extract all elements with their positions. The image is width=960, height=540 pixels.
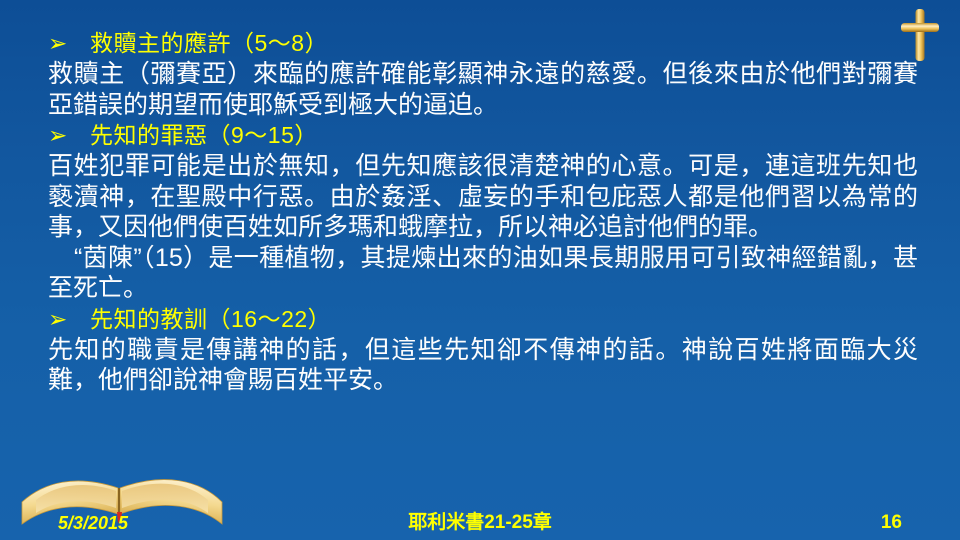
section-heading-1: ➢ 救贖主的應許（5～8）	[48, 28, 918, 59]
slide: ➢ 救贖主的應許（5～8） 救贖主（彌賽亞）來臨的應許確能彰顯神永遠的慈愛。但後…	[0, 0, 960, 540]
paragraph-1: 救贖主（彌賽亞）來臨的應許確能彰顯神永遠的慈愛。但後來由於他們對彌賽亞錯誤的期望…	[48, 59, 918, 120]
paragraph-2: 百姓犯罪可能是出於無知，但先知應該很清楚神的心意。可是，連這班先知也褻瀆神，在聖…	[48, 151, 918, 243]
arrow-bullet-icon: ➢	[48, 124, 78, 147]
section-heading-2: ➢ 先知的罪惡（9～15）	[48, 120, 918, 151]
section-heading-1-label: 救贖主的應許（5～8）	[90, 28, 328, 59]
paragraph-4: 先知的職責是傳講神的話，但這些先知卻不傳神的話。神說百姓將面臨大災難，他們卻說神…	[48, 335, 918, 396]
footer-title: 耶利米書21-25章	[0, 507, 960, 534]
arrow-bullet-icon: ➢	[48, 308, 78, 331]
arrow-bullet-icon: ➢	[48, 32, 78, 55]
paragraph-3: “茵陳”（15）是一種植物，其提煉出來的油如果長期服用可引致神經錯亂，甚至死亡。	[48, 243, 918, 304]
section-heading-3: ➢ 先知的教訓（16～22）	[48, 304, 918, 335]
section-heading-2-label: 先知的罪惡（9～15）	[90, 120, 318, 151]
footer-page-number: 16	[881, 512, 902, 534]
section-heading-3-label: 先知的教訓（16～22）	[90, 304, 331, 335]
slide-body: ➢ 救贖主的應許（5～8） 救贖主（彌賽亞）來臨的應許確能彰顯神永遠的慈愛。但後…	[48, 28, 918, 396]
